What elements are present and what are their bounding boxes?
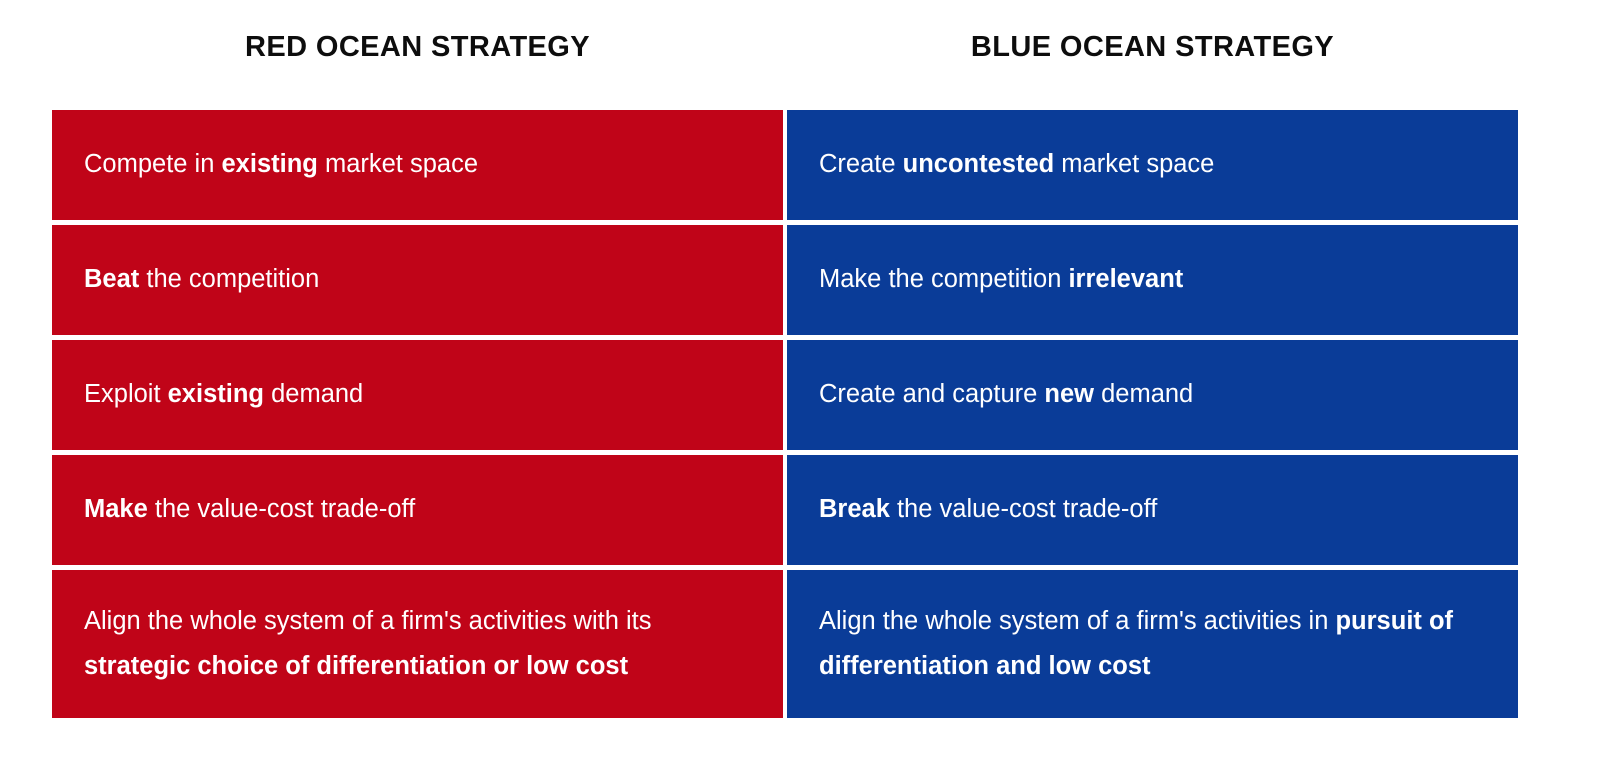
- red-ocean-cell-3: Exploit existing demand: [52, 340, 783, 450]
- text-emphasis: new: [1044, 380, 1094, 408]
- text-plain: market space: [1054, 150, 1214, 178]
- text-emphasis: existing: [168, 380, 264, 408]
- text-plain: Align the whole system of a firm's activ…: [84, 607, 651, 635]
- blue-ocean-cell-3: Create and capture new demand: [787, 340, 1518, 450]
- red-ocean-cell-2: Beat the competition: [52, 225, 783, 335]
- table-row: Compete in existing market space Create …: [52, 110, 1518, 220]
- blue-ocean-cell-4: Break the value-cost trade-off: [787, 455, 1518, 565]
- red-ocean-cell-1-text: Compete in existing market space: [84, 142, 478, 187]
- text-emphasis: Break: [819, 495, 890, 523]
- text-emphasis: Beat: [84, 265, 139, 293]
- blue-ocean-cell-5-text: Align the whole system of a firm's activ…: [819, 599, 1486, 690]
- text-emphasis: irrelevant: [1068, 265, 1183, 293]
- text-plain: market space: [318, 150, 478, 178]
- text-plain: Exploit: [84, 380, 168, 408]
- text-emphasis: uncontested: [903, 150, 1055, 178]
- red-ocean-cell-4: Make the value-cost trade-off: [52, 455, 783, 565]
- text-plain: Make the competition: [819, 265, 1068, 293]
- strategy-comparison-matrix: Compete in existing market space Create …: [52, 110, 1518, 718]
- text-plain: the value-cost trade-off: [890, 495, 1157, 523]
- header-red-ocean-strategy: RED OCEAN STRATEGY: [52, 33, 783, 64]
- red-ocean-cell-3-text: Exploit existing demand: [84, 372, 363, 417]
- red-ocean-cell-1: Compete in existing market space: [52, 110, 783, 220]
- blue-ocean-cell-2-text: Make the competition irrelevant: [819, 257, 1183, 302]
- table-row: Exploit existing demand Create and captu…: [52, 340, 1518, 450]
- text-plain: Create and capture: [819, 380, 1044, 408]
- text-plain: the value-cost trade-off: [148, 495, 415, 523]
- blue-ocean-cell-2: Make the competition irrelevant: [787, 225, 1518, 335]
- red-ocean-cell-5-text: Align the whole system of a firm's activ…: [84, 599, 751, 690]
- red-ocean-cell-4-text: Make the value-cost trade-off: [84, 487, 415, 532]
- header-blue-ocean-strategy: BLUE OCEAN STRATEGY: [787, 33, 1518, 64]
- text-emphasis: strategic choice of differentiation or l…: [84, 652, 628, 680]
- text-plain: demand: [1094, 380, 1193, 408]
- blue-ocean-cell-4-text: Break the value-cost trade-off: [819, 487, 1157, 532]
- table-row: Align the whole system of a firm's activ…: [52, 570, 1518, 718]
- blue-ocean-cell-3-text: Create and capture new demand: [819, 372, 1193, 417]
- blue-ocean-cell-1: Create uncontested market space: [787, 110, 1518, 220]
- text-plain: demand: [264, 380, 363, 408]
- text-plain: Compete in: [84, 150, 222, 178]
- text-plain: Align the whole system of a firm's activ…: [819, 607, 1335, 635]
- blue-ocean-cell-5: Align the whole system of a firm's activ…: [787, 570, 1518, 718]
- table-row: Make the value-cost trade-off Break the …: [52, 455, 1518, 565]
- text-plain: the competition: [139, 265, 319, 293]
- red-ocean-cell-2-text: Beat the competition: [84, 257, 319, 302]
- text-emphasis: Make: [84, 495, 148, 523]
- column-headers: RED OCEAN STRATEGY BLUE OCEAN STRATEGY: [52, 0, 1518, 96]
- comparison-board: RED OCEAN STRATEGY BLUE OCEAN STRATEGY C…: [0, 0, 1600, 764]
- table-row: Beat the competition Make the competitio…: [52, 225, 1518, 335]
- text-emphasis: existing: [222, 150, 318, 178]
- blue-ocean-cell-1-text: Create uncontested market space: [819, 142, 1214, 187]
- red-ocean-cell-5: Align the whole system of a firm's activ…: [52, 570, 783, 718]
- text-plain: Create: [819, 150, 903, 178]
